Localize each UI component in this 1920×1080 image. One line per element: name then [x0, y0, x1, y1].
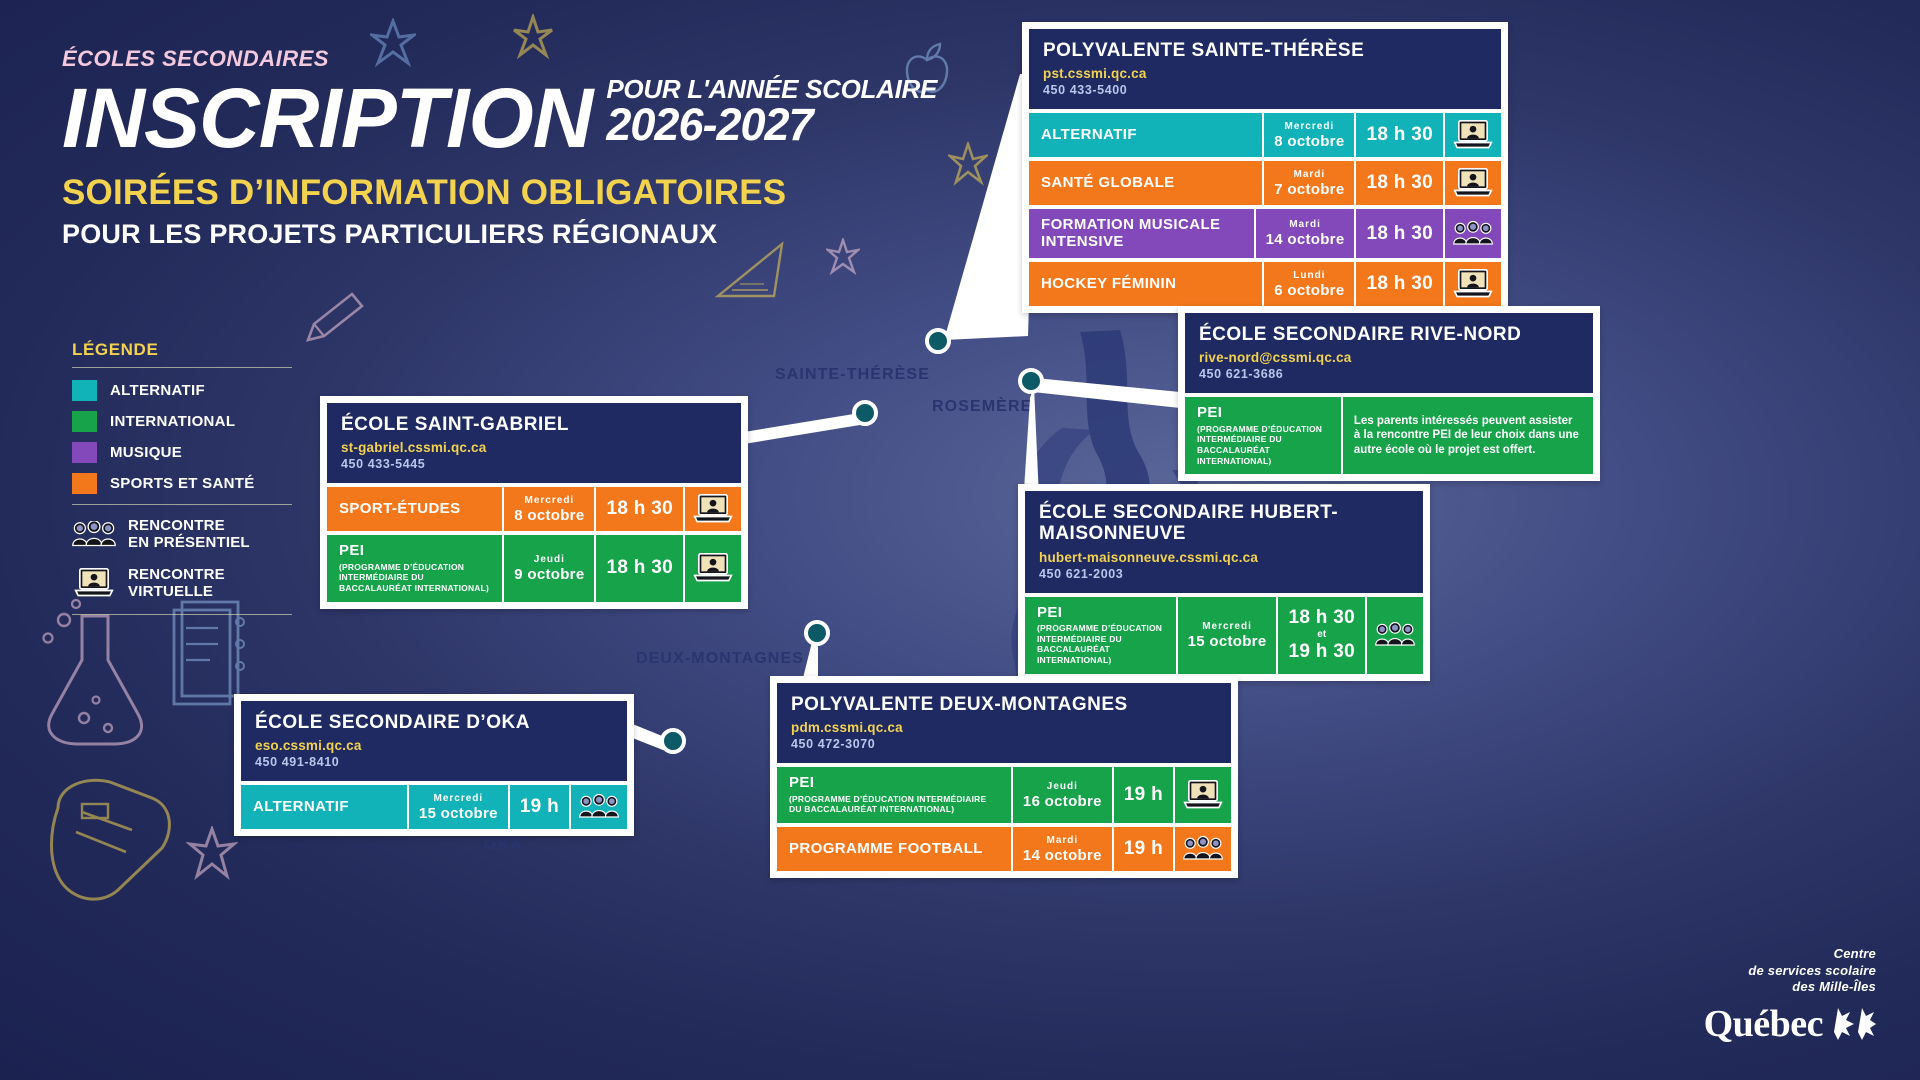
map-pin-deux-montagnes[interactable] — [804, 620, 830, 646]
date-cell: Mercredi8 octobre — [1262, 113, 1354, 157]
info-note-cell: Les parents intéressés peuvent assister … — [1341, 397, 1593, 474]
program-cell: HOCKEY FÉMININ — [1029, 262, 1262, 306]
time-primary: 18 h 30 — [1366, 172, 1433, 194]
program-cell: FORMATION MUSICALE INTENSIVE — [1029, 209, 1254, 258]
date-cell: Jeudi16 octobre — [1011, 767, 1112, 823]
program-row: SPORT-ÉTUDESMercredi8 octobre18 h 30 — [327, 487, 741, 531]
program-rows: ALTERNATIFMercredi15 octobre19 h — [241, 785, 627, 829]
program-name: HOCKEY FÉMININ — [1041, 276, 1250, 293]
program-name: ALTERNATIF — [253, 799, 395, 816]
school-name: POLYVALENTE DEUX-MONTAGNES — [791, 694, 1217, 715]
time-cell: 19 h — [1112, 767, 1173, 823]
meeting-type-cell — [569, 785, 627, 829]
school-card-pdm[interactable]: POLYVALENTE DEUX-MONTAGNESpdm.cssmi.qc.c… — [770, 676, 1238, 878]
date-cell: Mardi14 octobre — [1254, 209, 1355, 258]
meeting-type-cell — [1443, 262, 1501, 306]
weekday-label: Mercredi — [1202, 621, 1252, 632]
school-phone[interactable]: 450 621-2003 — [1039, 567, 1409, 581]
school-phone[interactable]: 450 491-8410 — [255, 755, 613, 769]
program-subtitle: (PROGRAMME D’ÉDUCATION INTERMÉDIAIRE DU … — [1037, 623, 1164, 666]
meeting-type-cell — [1173, 827, 1231, 871]
date-label: 8 octobre — [1274, 133, 1344, 150]
card-header: ÉCOLE SECONDAIRE HUBERT-MAISONNEUVEhuber… — [1025, 491, 1423, 593]
quebec-flag-icon — [1832, 1004, 1876, 1044]
school-name: ÉCOLE SECONDAIRE RIVE-NORD — [1199, 324, 1579, 345]
card-header: ÉCOLE SECONDAIRE RIVE-NORDrive-nord@cssm… — [1185, 313, 1593, 393]
time-cell: 18 h 30 — [1354, 113, 1443, 157]
laptop-person-icon — [1453, 167, 1493, 199]
date-cell: Lundi6 octobre — [1262, 262, 1354, 306]
program-row: PEI(PROGRAMME D’ÉDUCATION INTERMÉDIAIRE … — [1185, 397, 1593, 474]
logo-line-1: Centre — [1704, 946, 1876, 962]
group-people-icon — [1375, 619, 1415, 651]
weekday-label: Mardi — [1289, 219, 1321, 230]
logo-line-2: de services scolaire — [1704, 963, 1876, 979]
school-name: POLYVALENTE SAINTE-THÉRÈSE — [1043, 40, 1487, 61]
meeting-type-cell — [1443, 113, 1501, 157]
card-header: POLYVALENTE DEUX-MONTAGNESpdm.cssmi.qc.c… — [777, 683, 1231, 763]
program-row: SANTÉ GLOBALEMardi7 octobre18 h 30 — [1029, 161, 1501, 205]
time-secondary: 19 h 30 — [1288, 641, 1355, 663]
program-row: FORMATION MUSICALE INTENSIVEMardi14 octo… — [1029, 209, 1501, 258]
date-cell: Mercredi8 octobre — [502, 487, 594, 531]
school-card-saint-gabriel[interactable]: ÉCOLE SAINT-GABRIELst-gabriel.cssmi.qc.c… — [320, 396, 748, 609]
program-rows: SPORT-ÉTUDESMercredi8 octobre18 h 30PEI(… — [327, 487, 741, 601]
meeting-type-cell — [1365, 597, 1423, 674]
program-row: ALTERNATIFMercredi15 octobre19 h — [241, 785, 627, 829]
weekday-label: Lundi — [1293, 270, 1325, 281]
time-primary: 18 h 30 — [606, 557, 673, 579]
program-name: ALTERNATIF — [1041, 127, 1250, 144]
program-name: PROGRAMME FOOTBALL — [789, 841, 999, 858]
time-cell: 18 h 30 — [1354, 209, 1443, 258]
school-phone[interactable]: 450 433-5400 — [1043, 83, 1487, 97]
date-label: 14 octobre — [1266, 231, 1345, 248]
weekday-label: Mardi — [1294, 169, 1326, 180]
laptop-person-icon — [1453, 119, 1493, 151]
meeting-type-cell — [1443, 161, 1501, 205]
time-primary: 19 h — [1124, 838, 1163, 860]
time-primary: 19 h — [1124, 784, 1163, 806]
program-row: PEI(PROGRAMME D’ÉDUCATION INTERMÉDIAIRE … — [327, 535, 741, 601]
connector-saint-gabriel — [744, 412, 866, 444]
program-cell: PEI(PROGRAMME D’ÉDUCATION INTERMÉDIAIRE … — [327, 535, 502, 601]
program-row: HOCKEY FÉMININLundi6 octobre18 h 30 — [1029, 262, 1501, 306]
weekday-label: Mardi — [1047, 835, 1079, 846]
program-cell: SANTÉ GLOBALE — [1029, 161, 1262, 205]
school-card-pst[interactable]: POLYVALENTE SAINTE-THÉRÈSEpst.cssmi.qc.c… — [1022, 22, 1508, 313]
program-rows: PEI(PROGRAMME D’ÉDUCATION INTERMÉDIAIRE … — [1185, 397, 1593, 474]
time-primary: 19 h — [520, 796, 559, 818]
school-name: ÉCOLE SAINT-GABRIEL — [341, 414, 727, 435]
weekday-label: Mercredi — [1285, 121, 1335, 132]
program-name: SPORT-ÉTUDES — [339, 501, 490, 518]
laptop-person-icon — [693, 552, 733, 584]
weekday-label: Jeudi — [1047, 781, 1078, 792]
quebec-wordmark: Québec — [1704, 1002, 1823, 1046]
card-header: POLYVALENTE SAINTE-THÉRÈSEpst.cssmi.qc.c… — [1029, 29, 1501, 109]
program-cell: ALTERNATIF — [241, 785, 407, 829]
program-row: ALTERNATIFMercredi8 octobre18 h 30 — [1029, 113, 1501, 157]
map-pin-sainte-therese[interactable] — [925, 328, 951, 354]
program-name: FORMATION MUSICALE INTENSIVE — [1041, 217, 1242, 250]
program-row: PEI(PROGRAMME D’ÉDUCATION INTERMÉDIAIRE … — [777, 767, 1231, 823]
date-label: 8 octobre — [514, 507, 584, 524]
time-cell: 18 h 30 — [594, 535, 683, 601]
info-note-text: Les parents intéressés peuvent assister … — [1354, 414, 1582, 458]
program-cell: PEI(PROGRAMME D’ÉDUCATION INTERMÉDIAIRE … — [1025, 597, 1176, 674]
time-primary: 18 h 30 — [1366, 124, 1433, 146]
date-cell: Mercredi15 octobre — [1176, 597, 1277, 674]
time-primary: 18 h 30 — [1366, 223, 1433, 245]
map-pin-rosemere[interactable] — [1018, 368, 1044, 394]
time-primary: 18 h 30 — [1288, 607, 1355, 629]
school-website[interactable]: hubert-maisonneuve.cssmi.qc.ca — [1039, 550, 1409, 565]
program-name: SANTÉ GLOBALE — [1041, 175, 1250, 192]
program-name: PEI — [339, 543, 490, 560]
date-label: 7 octobre — [1274, 181, 1344, 198]
date-label: 14 octobre — [1023, 847, 1102, 864]
card-header: ÉCOLE SAINT-GABRIELst-gabriel.cssmi.qc.c… — [327, 403, 741, 483]
laptop-person-icon — [693, 493, 733, 525]
program-subtitle: (PROGRAMME D’ÉDUCATION INTERMÉDIAIRE DU … — [339, 562, 490, 594]
program-rows: PEI(PROGRAMME D’ÉDUCATION INTERMÉDIAIRE … — [777, 767, 1231, 871]
school-phone[interactable]: 450 472-3070 — [791, 737, 1217, 751]
school-website[interactable]: pst.cssmi.qc.ca — [1043, 66, 1487, 81]
group-people-icon — [579, 791, 619, 823]
logo-line-3: des Mille-Îles — [1704, 979, 1876, 995]
program-row: PROGRAMME FOOTBALLMardi14 octobre19 h — [777, 827, 1231, 871]
connector-lines — [0, 0, 1920, 1080]
time-primary: 18 h 30 — [1366, 273, 1433, 295]
laptop-person-icon — [1453, 268, 1493, 300]
school-website[interactable]: eso.cssmi.qc.ca — [255, 738, 613, 753]
meeting-type-cell — [1443, 209, 1501, 258]
program-cell: SPORT-ÉTUDES — [327, 487, 502, 531]
school-card-oka[interactable]: ÉCOLE SECONDAIRE D’OKAeso.cssmi.qc.ca450… — [234, 694, 634, 836]
weekday-label: Mercredi — [434, 793, 484, 804]
meeting-type-cell — [683, 487, 741, 531]
date-cell: Mardi14 octobre — [1011, 827, 1112, 871]
connector-rive-nord — [1033, 378, 1180, 408]
program-subtitle: (PROGRAMME D’ÉDUCATION INTERMÉDIAIRE DU … — [1197, 424, 1329, 467]
school-name: ÉCOLE SECONDAIRE HUBERT-MAISONNEUVE — [1039, 502, 1409, 545]
time-separator: et — [1317, 629, 1326, 641]
date-label: 9 octobre — [514, 566, 584, 583]
date-label: 16 octobre — [1023, 793, 1102, 810]
time-cell: 18 h 30 — [1354, 262, 1443, 306]
program-name: PEI — [789, 775, 999, 792]
map-pin-oka[interactable] — [660, 728, 686, 754]
group-people-icon — [1183, 833, 1223, 865]
map-pin-saint-gabriel[interactable] — [852, 400, 878, 426]
date-cell: Mardi7 octobre — [1262, 161, 1354, 205]
time-cell: 19 h — [508, 785, 569, 829]
quebec-logo-row: Québec — [1704, 1002, 1876, 1046]
school-card-rive-nord[interactable]: ÉCOLE SECONDAIRE RIVE-NORDrive-nord@cssm… — [1178, 306, 1600, 481]
date-label: 6 octobre — [1274, 282, 1344, 299]
meeting-type-cell — [1173, 767, 1231, 823]
date-cell: Jeudi9 octobre — [502, 535, 594, 601]
date-label: 15 octobre — [419, 805, 498, 822]
poster-root: ÉCOLES SECONDAIRES INSCRIPTION POUR L'AN… — [0, 0, 1920, 1080]
time-cell: 19 h — [1112, 827, 1173, 871]
time-cell: 18 h 30 — [1354, 161, 1443, 205]
program-cell: PEI(PROGRAMME D’ÉDUCATION INTERMÉDIAIRE … — [777, 767, 1011, 823]
card-header: ÉCOLE SECONDAIRE D’OKAeso.cssmi.qc.ca450… — [241, 701, 627, 781]
time-cell: 18 h 30 — [594, 487, 683, 531]
laptop-person-icon — [1183, 779, 1223, 811]
weekday-label: Jeudi — [534, 554, 565, 565]
time-primary: 18 h 30 — [606, 498, 673, 520]
organisation-logo: Centre de services scolaire des Mille-Îl… — [1704, 946, 1876, 1046]
school-website[interactable]: rive-nord@cssmi.qc.ca — [1199, 350, 1579, 365]
program-rows: PEI(PROGRAMME D’ÉDUCATION INTERMÉDIAIRE … — [1025, 597, 1423, 674]
program-cell: PROGRAMME FOOTBALL — [777, 827, 1011, 871]
program-rows: ALTERNATIFMercredi8 octobre18 h 30SANTÉ … — [1029, 113, 1501, 306]
meeting-type-cell — [683, 535, 741, 601]
school-phone[interactable]: 450 433-5445 — [341, 457, 727, 471]
school-name: ÉCOLE SECONDAIRE D’OKA — [255, 712, 613, 733]
group-people-icon — [1453, 218, 1493, 250]
school-card-hubert-maisonneuve[interactable]: ÉCOLE SECONDAIRE HUBERT-MAISONNEUVEhuber… — [1018, 484, 1430, 681]
program-row: PEI(PROGRAMME D’ÉDUCATION INTERMÉDIAIRE … — [1025, 597, 1423, 674]
school-phone[interactable]: 450 621-3686 — [1199, 367, 1579, 381]
school-website[interactable]: st-gabriel.cssmi.qc.ca — [341, 440, 727, 455]
time-cell: 18 h 30et19 h 30 — [1276, 597, 1365, 674]
date-label: 15 octobre — [1188, 633, 1267, 650]
school-website[interactable]: pdm.cssmi.qc.ca — [791, 720, 1217, 735]
program-cell: ALTERNATIF — [1029, 113, 1262, 157]
weekday-label: Mercredi — [525, 495, 575, 506]
date-cell: Mercredi15 octobre — [407, 785, 508, 829]
program-subtitle: (PROGRAMME D’ÉDUCATION INTERMÉDIAIRE DU … — [789, 794, 999, 815]
program-cell: PEI(PROGRAMME D’ÉDUCATION INTERMÉDIAIRE … — [1185, 397, 1341, 474]
program-name: PEI — [1197, 405, 1329, 422]
program-name: PEI — [1037, 605, 1164, 622]
